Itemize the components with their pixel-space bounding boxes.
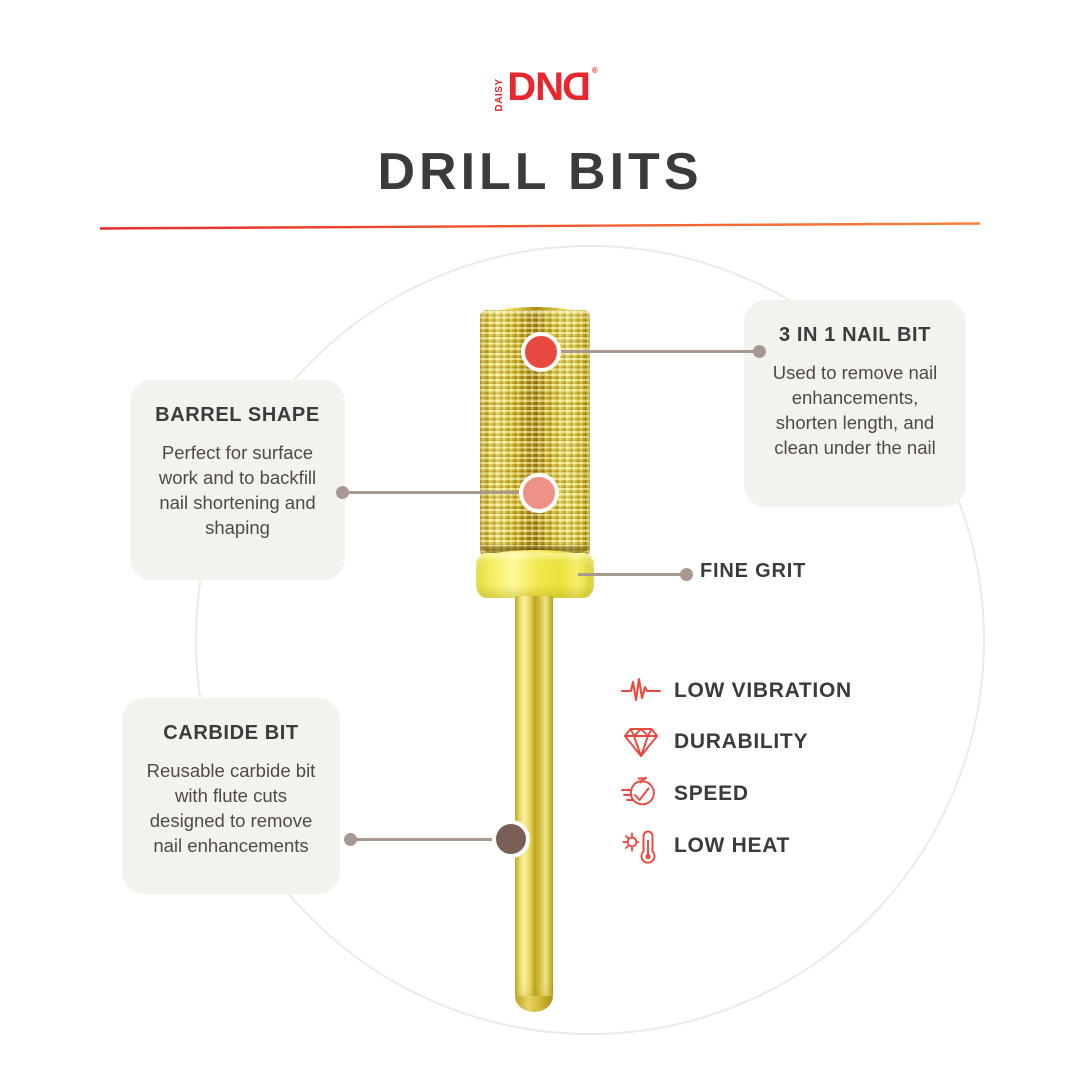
callout-body-barrel-shape: Perfect for surface work and to backfill… [150, 440, 325, 540]
callout-title-carbide-bit: CARBIDE BIT [142, 720, 320, 746]
logo-mirrored-d: D [563, 67, 591, 107]
marker-dot-3-in-1-nail-bit [521, 332, 561, 372]
shaft-tip [515, 996, 553, 1012]
callout-card-3-in-1-nail-bit: 3 IN 1 NAIL BIT Used to remove nail enha… [744, 300, 966, 507]
feature-row-speed: SPEED [618, 768, 918, 820]
feature-row-low-heat: LOW HEAT [618, 820, 918, 872]
thermometer-icon [618, 823, 664, 869]
leader-endpoint-barrel-shape [336, 486, 349, 499]
callout-card-barrel-shape: BARREL SHAPE Perfect for surface work an… [130, 380, 345, 580]
marker-dot-barrel-shape [519, 473, 559, 513]
feature-row-durability: DURABILITY [618, 716, 918, 768]
waveform-icon [618, 668, 664, 714]
leader-endpoint-3-in-1-nail-bit [753, 345, 766, 358]
label-fine-grit: FINE GRIT [700, 560, 806, 583]
feature-label-durability: DURABILITY [674, 730, 808, 754]
brand-logo: DAISY DND® [0, 64, 1080, 110]
gold-shaft [515, 596, 553, 1008]
leader-endpoint-fine-grit [680, 568, 693, 581]
drill-bit-product-image [470, 310, 600, 1010]
registered-mark-icon: ® [592, 67, 597, 75]
logo-daisy-text: DAISY [494, 78, 506, 112]
callout-card-carbide-bit: CARBIDE BIT Reusable carbide bit with fl… [122, 698, 340, 894]
header-divider [100, 222, 980, 230]
feature-label-low-heat: LOW HEAT [674, 834, 790, 858]
leader-line-carbide-bit [348, 838, 506, 841]
infographic-canvas: DAISY DND® DRILL BITS [0, 0, 1080, 1080]
leader-line-3-in-1-nail-bit [556, 350, 760, 353]
stopwatch-icon [618, 771, 664, 817]
callout-title-3-in-1-nail-bit: 3 IN 1 NAIL BIT [764, 322, 946, 348]
callout-body-3-in-1-nail-bit: Used to remove nail enhancements, shorte… [764, 360, 946, 460]
feature-list: LOW VIBRATION DURABILITY [618, 665, 918, 872]
marker-dot-carbide-bit [492, 820, 530, 858]
feature-label-low-vibration: LOW VIBRATION [674, 679, 852, 703]
leader-line-fine-grit [578, 573, 684, 576]
logo-dn-letters: DN [507, 67, 563, 107]
callout-body-carbide-bit: Reusable carbide bit with flute cuts des… [142, 758, 320, 858]
feature-row-low-vibration: LOW VIBRATION [618, 665, 918, 717]
yellow-grit-collar [476, 553, 594, 598]
logo-dnd-text: DND® [507, 67, 597, 107]
diamond-icon [618, 719, 664, 765]
feature-label-speed: SPEED [674, 782, 749, 806]
page-title: DRILL BITS [0, 142, 1080, 202]
leader-line-barrel-shape [340, 491, 530, 494]
callout-title-barrel-shape: BARREL SHAPE [150, 402, 325, 428]
leader-endpoint-carbide-bit [344, 833, 357, 846]
